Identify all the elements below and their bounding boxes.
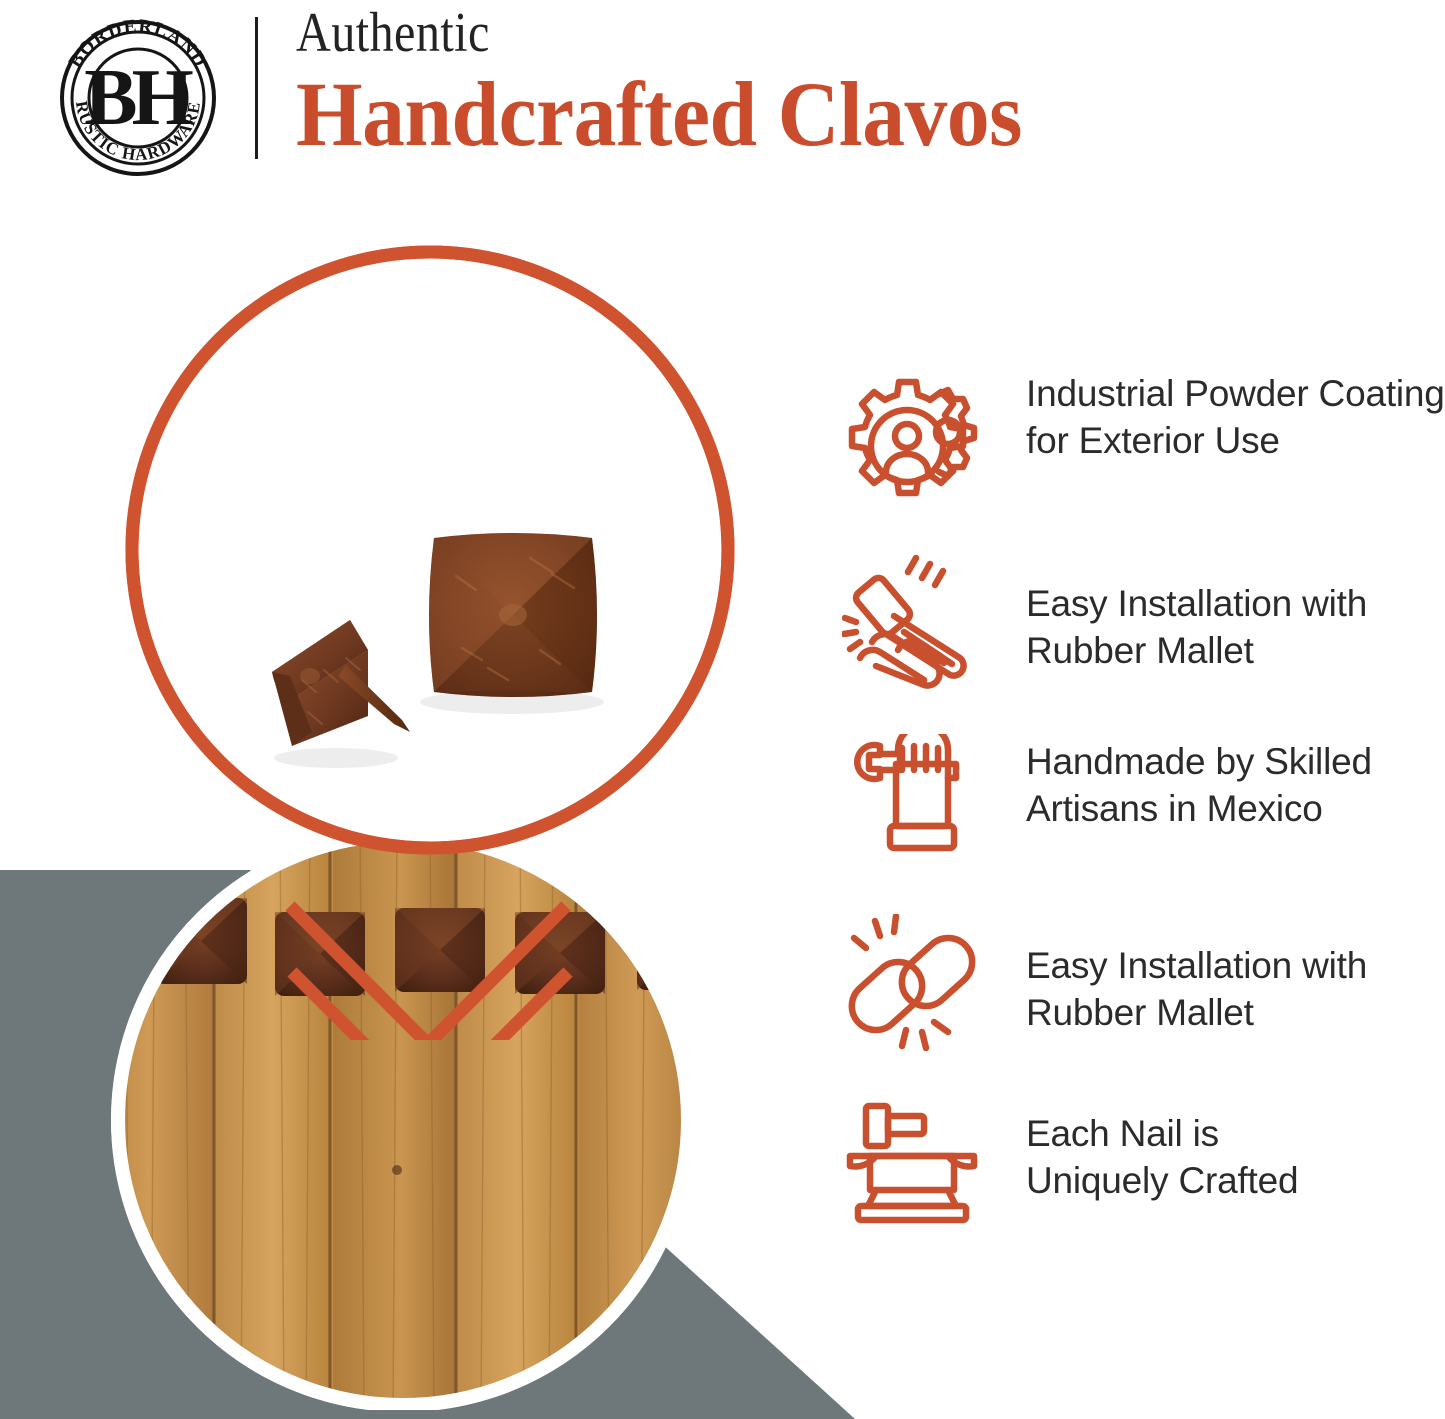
- feature-line1: Handmade by Skilled: [1026, 741, 1372, 782]
- feature-list: Industrial Powder Coating for Exterior U…: [836, 360, 1445, 1230]
- product-visual-area: [0, 180, 820, 1419]
- feature-item: Handmade by Skilled Artisans in Mexico: [836, 720, 1445, 900]
- brand-logo: BORDERLAND RUSTIC HARDWARE BH: [48, 6, 228, 178]
- page-title-line2: Handcrafted Clavos: [296, 66, 1022, 162]
- feature-line1: Industrial Powder Coating: [1026, 373, 1445, 414]
- svg-text:BH: BH: [84, 54, 192, 142]
- fist-wrench-icon: [842, 734, 982, 874]
- feature-text: Handmade by Skilled Artisans in Mexico: [1026, 738, 1445, 832]
- logo-icon: BORDERLAND RUSTIC HARDWARE BH: [48, 6, 228, 178]
- hand-mallet-icon: [842, 554, 982, 694]
- feature-text: Easy Installation with Rubber Mallet: [1026, 942, 1445, 1036]
- feature-line1: Easy Installation with: [1026, 945, 1367, 986]
- feature-text: Industrial Powder Coating for Exterior U…: [1026, 370, 1445, 464]
- infographic-canvas: BORDERLAND RUSTIC HARDWARE BH Authentic …: [0, 0, 1445, 1419]
- feature-line2: Rubber Mallet: [1026, 992, 1254, 1033]
- feature-line2: for Exterior Use: [1026, 420, 1280, 461]
- gear-person-icon: [842, 374, 982, 514]
- callout-bubble: [110, 230, 750, 1040]
- feature-item: Easy Installation with Rubber Mallet: [836, 540, 1445, 720]
- feature-line2: Rubber Mallet: [1026, 630, 1254, 671]
- feature-text: Each Nail is Uniquely Crafted: [1026, 1110, 1445, 1204]
- feature-line2: Uniquely Crafted: [1026, 1160, 1298, 1201]
- feature-line2: Artisans in Mexico: [1026, 788, 1323, 829]
- header-title-block: Authentic Handcrafted Clavos: [296, 4, 1077, 162]
- feature-item: Industrial Powder Coating for Exterior U…: [836, 360, 1445, 540]
- header-divider: [255, 17, 258, 159]
- feature-line1: Easy Installation with: [1026, 583, 1367, 624]
- chain-link-icon: [842, 914, 982, 1054]
- header: BORDERLAND RUSTIC HARDWARE BH Authentic …: [0, 0, 1445, 180]
- feature-text: Easy Installation with Rubber Mallet: [1026, 580, 1445, 674]
- page-title-line1: Authentic: [296, 4, 967, 62]
- feature-item: Easy Installation with Rubber Mallet: [836, 900, 1445, 1080]
- feature-item: Each Nail is Uniquely Crafted: [836, 1080, 1445, 1230]
- feature-line1: Each Nail is: [1026, 1113, 1219, 1154]
- anvil-hammer-icon: [842, 1094, 982, 1234]
